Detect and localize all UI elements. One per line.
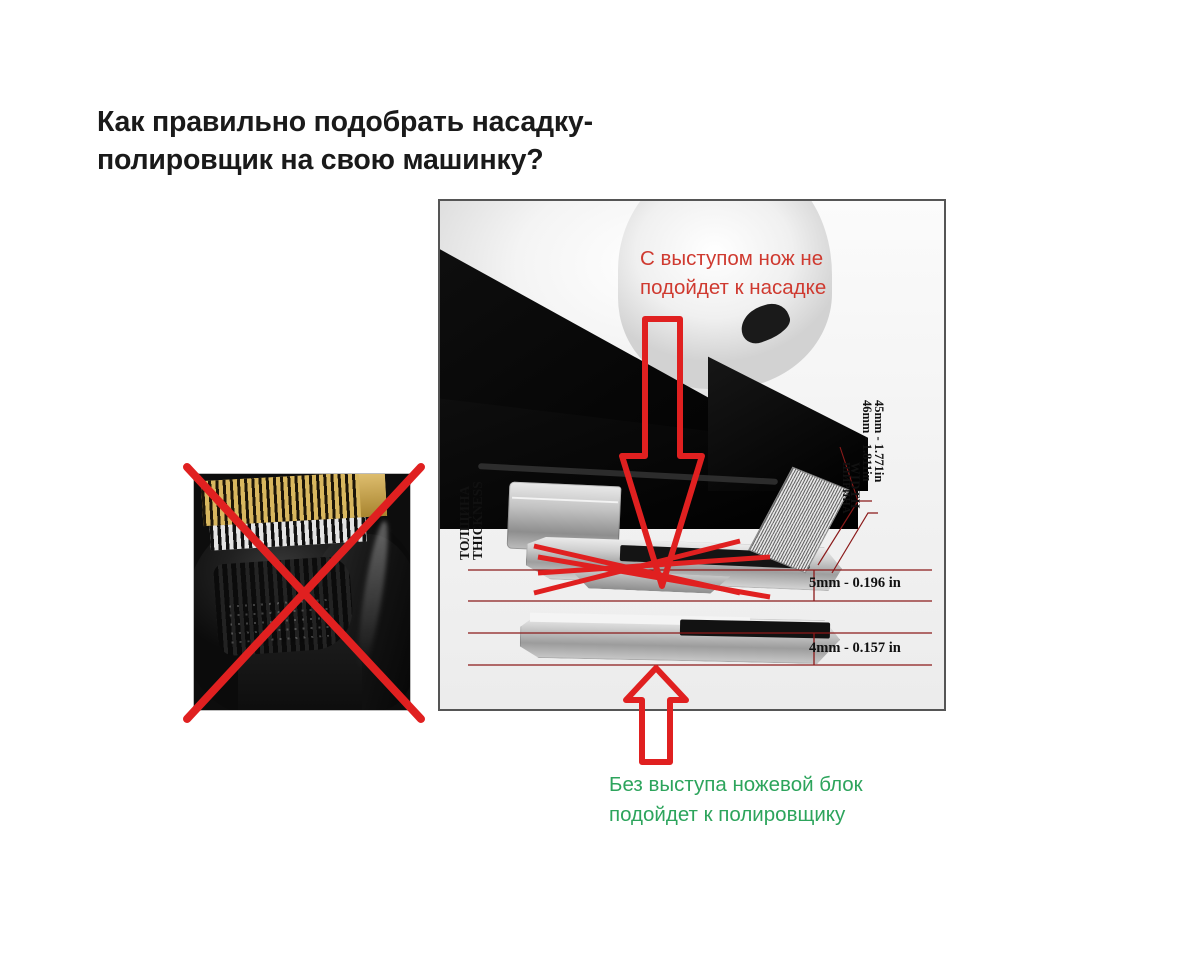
green-annotation-text: Без выступа ножевой блок подойдет к поли…: [609, 770, 969, 829]
clipper-texture-dots: [229, 596, 336, 643]
gold-comb-end-cap: [359, 473, 387, 517]
page-title: Как правильно подобрать насадку- полиров…: [97, 104, 737, 180]
thickness-label-ru: ТОЛЩИНА: [457, 486, 473, 560]
thickness-top-label: 5mm - 0.196 in: [809, 575, 901, 592]
green-annotation-line1: Без выступа ножевой блок: [609, 773, 863, 796]
red-annotation-line1: С выступом нож не: [640, 247, 823, 270]
thickness-bottom-label: 4mm - 0.157 in: [809, 640, 901, 657]
red-annotation-text: С выступом нож не подойдет к насадке: [640, 244, 904, 302]
page-title-line1: Как правильно подобрать насадку-: [97, 106, 593, 138]
down-arrow-icon: [622, 319, 702, 586]
red-annotation-line2: подойдет к насадке: [640, 273, 904, 302]
left-photo-rejected: [193, 473, 411, 711]
width-label-ru: ШИРИНА: [840, 462, 851, 514]
green-annotation-line2: подойдет к полировщику: [609, 800, 969, 830]
width-leader-lower: [832, 513, 878, 573]
page-title-line2: полировщик на свою машинку?: [97, 142, 737, 180]
page-root: Как правильно подобрать насадку- полиров…: [0, 0, 1200, 960]
clipper-with-gold-comb-image: [193, 473, 411, 711]
